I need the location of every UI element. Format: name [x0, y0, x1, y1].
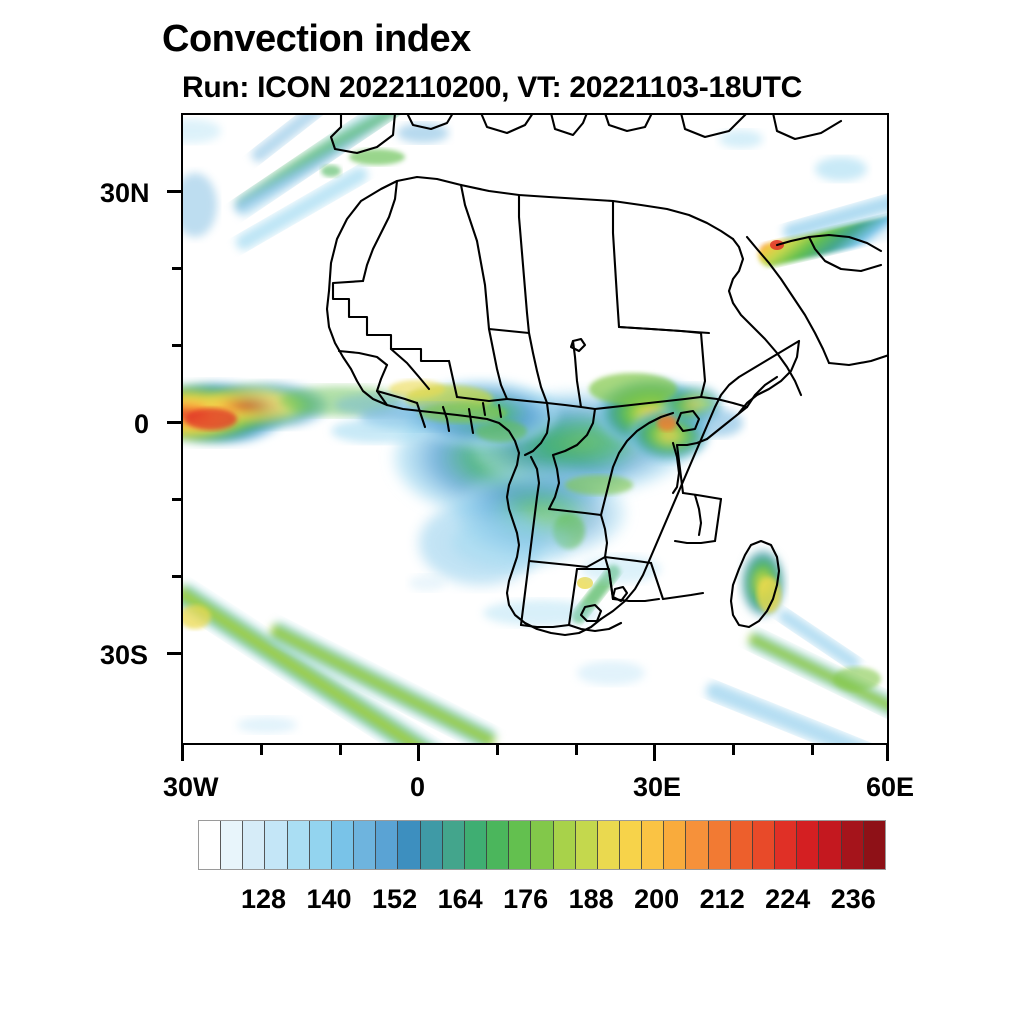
colorbar-cell [487, 821, 509, 869]
x-tick-20E [575, 745, 578, 755]
colorbar-cell [664, 821, 686, 869]
x-tick-40E [732, 745, 735, 755]
colorbar-tick-label: 152 [372, 884, 417, 915]
colorbar-cell [310, 821, 332, 869]
colorbar-cell [686, 821, 708, 869]
colorbar-tick-label: 140 [307, 884, 352, 915]
x-tick-0 [417, 745, 420, 761]
colorbar-cell [864, 821, 885, 869]
x-tick-10E [496, 745, 499, 755]
x-tick-label-30W: 30W [163, 772, 219, 803]
x-tick-50E [811, 745, 814, 755]
colorbar-cell [421, 821, 443, 869]
colorbar-cell [753, 821, 775, 869]
y-tick-0 [167, 421, 181, 424]
x-tick-label-60E: 60E [866, 772, 914, 803]
colorbar-cell [288, 821, 310, 869]
colorbar-cell [531, 821, 553, 869]
x-tick-label-30E: 30E [633, 772, 681, 803]
colorbar-cell [199, 821, 221, 869]
colorbar-cell [842, 821, 864, 869]
colorbar-cell [332, 821, 354, 869]
colorbar-cell [376, 821, 398, 869]
colorbar-cell [243, 821, 265, 869]
y-tick-label-30N: 30N [100, 178, 150, 209]
colorbar-tick-label: 212 [700, 884, 745, 915]
colorbar-cell [509, 821, 531, 869]
colorbar-cell [797, 821, 819, 869]
colorbar-tick-label: 176 [503, 884, 548, 915]
colorbar-cell [598, 821, 620, 869]
y-tick-20S [172, 575, 181, 578]
y-tick-10N [172, 344, 181, 347]
colorbar-cell [221, 821, 243, 869]
colorbar-cell [443, 821, 465, 869]
y-tick-label-30S: 30S [100, 640, 148, 671]
figure-canvas: Convection index Run: ICON 2022110200, V… [0, 0, 1024, 1024]
colorbar-cell [265, 821, 287, 869]
x-tick-label-0: 0 [410, 772, 425, 803]
x-tick-60E [886, 745, 889, 761]
x-tick-20W [260, 745, 263, 755]
x-tick-30W [181, 745, 184, 761]
colorbar-tick-label: 188 [569, 884, 614, 915]
colorbar-cell [398, 821, 420, 869]
y-tick-label-0: 0 [134, 409, 149, 440]
y-tick-20N [172, 267, 181, 270]
colorbar-cell [775, 821, 797, 869]
x-tick-30E [653, 745, 656, 761]
colorbar-cell [620, 821, 642, 869]
page-title: Convection index [162, 18, 471, 61]
colorbar-cell [554, 821, 576, 869]
colorbar-tick-label: 128 [241, 884, 286, 915]
colorbar-cell [576, 821, 598, 869]
colorbar-cell [354, 821, 376, 869]
colorbar-cell [465, 821, 487, 869]
africa-convection-map [181, 113, 889, 745]
colorbar-tick-label: 200 [634, 884, 679, 915]
y-tick-30N [167, 190, 181, 193]
colorbar-cell [642, 821, 664, 869]
map-plot-area [181, 113, 889, 745]
colorbar-cell [731, 821, 753, 869]
colorbar-tick-label: 164 [438, 884, 483, 915]
x-tick-10W [339, 745, 342, 755]
colorbar[interactable] [198, 820, 886, 870]
colorbar-cell [819, 821, 841, 869]
run-valid-time-subtitle: Run: ICON 2022110200, VT: 20221103-18UTC [182, 71, 802, 105]
colorbar-cell [709, 821, 731, 869]
y-tick-10S [172, 498, 181, 501]
y-tick-30S [167, 652, 181, 655]
colorbar-tick-label: 236 [831, 884, 876, 915]
colorbar-tick-label: 224 [765, 884, 810, 915]
